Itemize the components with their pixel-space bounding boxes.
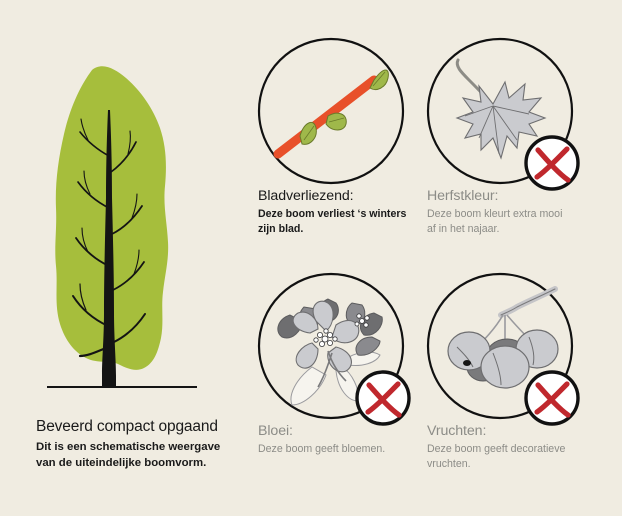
feature-cell-vruchten[interactable]: Vruchten: Deze boom geeft decoratieve vr… [425,271,595,516]
feature-heading: Herfstkleur: [427,188,595,205]
feature-heading: Bladverliezend: [258,188,426,205]
fruit-calyx-dot [463,360,471,366]
tree-svg [18,38,234,400]
ground-line [47,386,197,388]
feature-heading: Vruchten: [427,423,595,440]
branch-stem [278,80,374,154]
tree-subtitle-line-2: van de uiteindelijke boomvorm. [36,457,206,469]
feature-cell-herfstkleur[interactable]: Herfstkleur: Deze boom kleurt extra mooi… [425,36,595,281]
tree-subtitle-line-1: Dit is een schematische weergave [36,441,220,453]
leaf-lower [300,122,316,144]
x-mark-badge [352,367,414,429]
feature-grid: Bladverliezend: Deze boom verliest ‘s wi… [252,0,622,498]
feature-text-vruchten: Vruchten: Deze boom geeft decoratieve vr… [427,423,595,472]
tree-panel: Beveerd compact opgaand Dit is een schem… [0,0,252,498]
feature-description: Deze boom kleurt extra mooi af in het na… [427,207,595,237]
feature-desc-line-1: Deze boom geeft decoratieve [427,443,565,455]
feature-cell-bloei[interactable]: Bloei: Deze boom geeft bloemen. [256,271,426,516]
feature-description: Deze boom geeft bloemen. [258,442,426,457]
feature-desc-line-1: Deze boom verliest ‘s winters [258,208,406,220]
tree-species-infographic: Beveerd compact opgaand Dit is een schem… [0,0,622,498]
feature-desc-line-2: af in het najaar. [427,223,499,235]
feature-heading: Bloei: [258,423,426,440]
feature-description: Deze boom geeft decoratieve vruchten. [427,442,595,472]
tree-subtitle: Dit is een schematische weergave van de … [36,440,252,471]
tree-caption: Beveerd compact opgaand Dit is een schem… [36,418,252,471]
tree-illustration [18,38,234,400]
feature-desc-line-1: Deze boom kleurt extra mooi [427,208,562,220]
x-mark-badge [521,367,583,429]
x-mark-badge [521,132,583,194]
page-title: Beveerd compact opgaand [36,418,252,436]
feature-desc-line-1: Deze boom geeft bloemen. [258,443,385,455]
feature-cell-bladverliezend[interactable]: Bladverliezend: Deze boom verliest ‘s wi… [256,36,426,281]
feature-text-bloei: Bloei: Deze boom geeft bloemen. [258,423,426,457]
feature-description: Deze boom verliest ‘s winters zijn blad. [258,207,426,237]
feature-text-bladverliezend: Bladverliezend: Deze boom verliest ‘s wi… [258,188,426,237]
feature-desc-line-2: zijn blad. [258,223,303,235]
branch-with-leaves-icon [256,36,406,186]
feature-desc-line-2: vruchten. [427,458,471,470]
feature-text-herfstkleur: Herfstkleur: Deze boom kleurt extra mooi… [427,188,595,237]
